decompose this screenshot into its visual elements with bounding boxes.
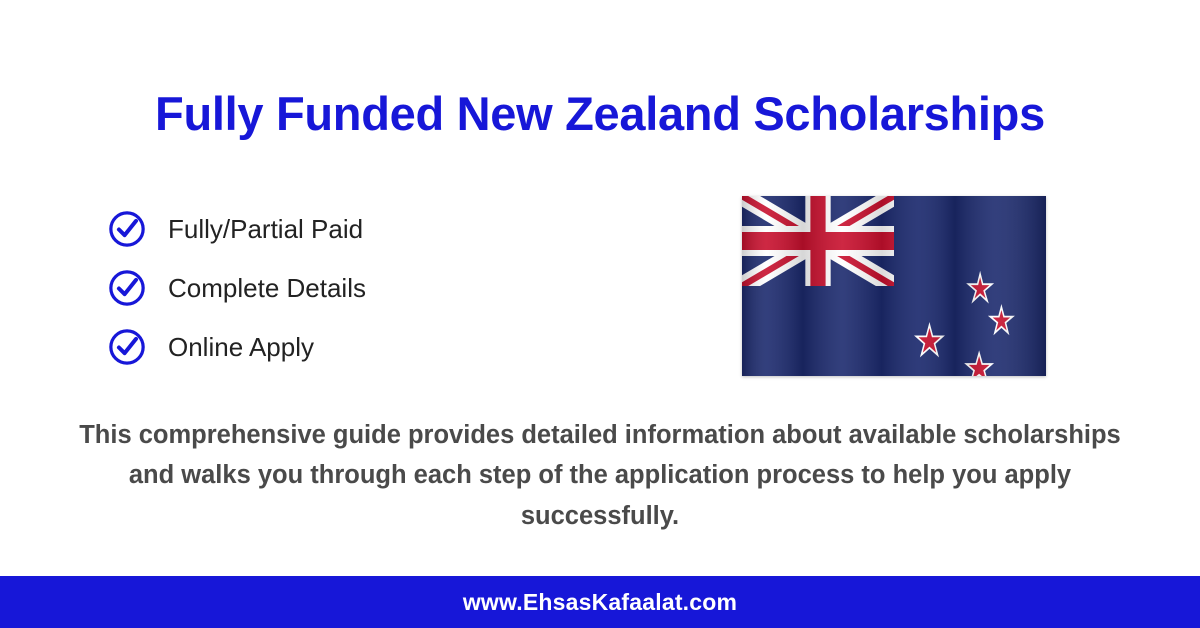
poster-root: Fully Funded New Zealand Scholarships Fu… <box>0 0 1200 628</box>
website-url[interactable]: www.EhsasKafaalat.com <box>463 589 737 616</box>
feature-list: Fully/Partial Paid Complete Details <box>108 210 366 366</box>
check-circle-icon <box>108 269 146 307</box>
list-item-label: Complete Details <box>168 275 366 301</box>
poster-content: Fully Funded New Zealand Scholarships Fu… <box>0 0 1200 576</box>
list-item: Online Apply <box>108 328 366 366</box>
page-title: Fully Funded New Zealand Scholarships <box>0 88 1200 140</box>
list-item-label: Online Apply <box>168 334 314 360</box>
check-circle-icon <box>108 210 146 248</box>
list-item: Complete Details <box>108 269 366 307</box>
footer-bar: www.EhsasKafaalat.com <box>0 576 1200 628</box>
check-circle-icon <box>108 328 146 366</box>
list-item-label: Fully/Partial Paid <box>168 216 363 242</box>
description-text: This comprehensive guide provides detail… <box>60 415 1140 536</box>
new-zealand-flag <box>742 196 1046 376</box>
list-item: Fully/Partial Paid <box>108 210 366 248</box>
